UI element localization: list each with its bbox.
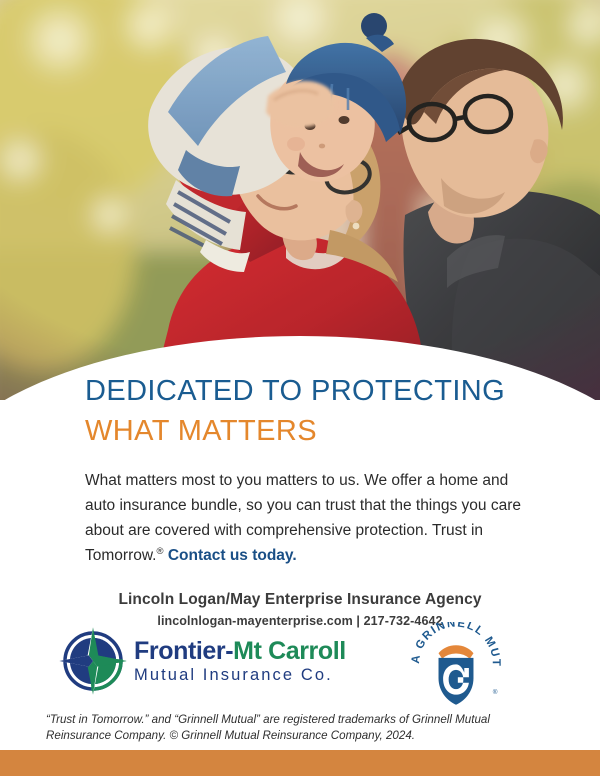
frontier-name-part2: Mt Carroll [233,637,346,665]
frontier-wordmark: Frontier-Mt Carroll Mutual Insurance Co. [134,639,346,684]
grinnell-mutual-member-badge: A GRINNELL MUTUAL MEMBER ® [408,622,504,719]
compass-rose-icon [58,626,128,696]
frontier-name: Frontier-Mt Carroll [134,639,346,664]
frontier-name-part1: Frontier- [134,637,233,665]
body-copy-text: What matters most to you matters to us. … [85,472,521,564]
trademark-disclaimer: “Trust in Tomorrow.” and “Grinnell Mutua… [0,712,600,745]
body-copy: What matters most to you matters to us. … [0,468,600,568]
grinnell-badge-icon: A GRINNELL MUTUAL MEMBER ® [408,622,504,714]
headline-line-1: DEDICATED TO PROTECTING [0,372,600,411]
contact-us-link[interactable]: Contact us today. [168,547,297,564]
grinnell-registered-mark: ® [493,688,498,696]
agency-name: Lincoln Logan/May Enterprise Insurance A… [0,591,600,609]
headline-line-2: WHAT MATTERS [0,411,600,451]
registered-mark: ® [157,546,164,557]
logo-row: Frontier-Mt Carroll Mutual Insurance Co.… [0,622,600,714]
bottom-accent-bar [0,750,600,776]
insurance-advertisement: DEDICATED TO PROTECTING WHAT MATTERS Wha… [0,0,600,776]
hero-photo [0,0,600,400]
ad-content: DEDICATED TO PROTECTING WHAT MATTERS Wha… [0,372,600,628]
frontier-subtitle: Mutual Insurance Co. [134,667,346,684]
frontier-mt-carroll-logo: Frontier-Mt Carroll Mutual Insurance Co. [58,626,346,696]
